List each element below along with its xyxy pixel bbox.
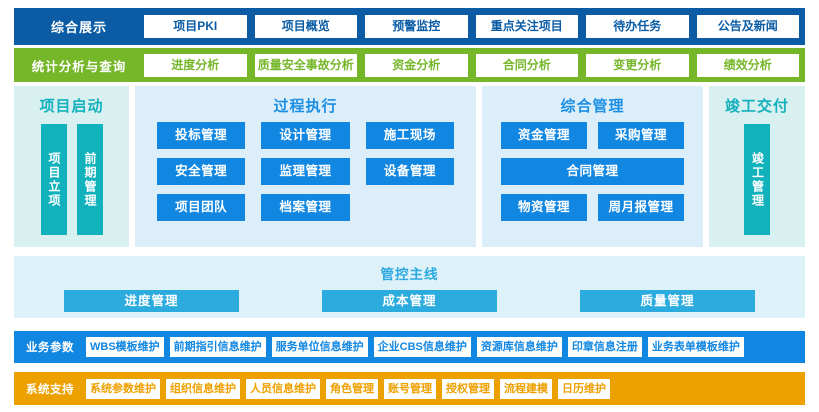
button-project-initiation[interactable]: 项目立项 xyxy=(41,124,67,235)
architecture-diagram-page: 综合展示 项目PKI 项目概览 预警监控 重点关注项目 待办任务 公告及新闻 统… xyxy=(0,0,819,412)
panel-process-execution: 过程执行 投标管理 设计管理 施工现场 安全管理 监理管理 设备管理 项目团队 … xyxy=(135,86,476,247)
nav-item-funds-analysis[interactable]: 资金分析 xyxy=(365,54,468,77)
button-preliminary-management[interactable]: 前期管理 xyxy=(77,124,103,235)
nav-item-business-form-template[interactable]: 业务表单模板维护 xyxy=(648,337,744,357)
button-group-comprehensive-management: 资金管理 采购管理 合同管理 物资管理 周月报管理 xyxy=(482,116,703,221)
nav-bar-comprehensive-display: 综合展示 项目PKI 项目概览 预警监控 重点关注项目 待办任务 公告及新闻 xyxy=(14,8,805,45)
panel-title-comprehensive-management: 综合管理 xyxy=(482,86,703,116)
nav-item-announcements-news[interactable]: 公告及新闻 xyxy=(697,15,800,38)
button-safety-management[interactable]: 安全管理 xyxy=(157,158,245,185)
bar-title-business-parameters: 业务参数 xyxy=(14,339,86,355)
nav-item-system-parameter-maintenance[interactable]: 系统参数维护 xyxy=(86,379,160,399)
nav-item-organization-info[interactable]: 组织信息维护 xyxy=(166,379,240,399)
nav-item-process-modeling[interactable]: 流程建模 xyxy=(500,379,552,399)
panel-comprehensive-management: 综合管理 资金管理 采购管理 合同管理 物资管理 周月报管理 xyxy=(482,86,703,247)
panel-completion-delivery: 竣工交付 竣工管理 xyxy=(709,86,805,247)
button-completion-management[interactable]: 竣工管理 xyxy=(744,124,770,235)
nav-bar-business-parameters: 业务参数 WBS模板维护 前期指引信息维护 服务单位信息维护 企业CBS信息维护… xyxy=(14,331,805,363)
nav-item-project-pki[interactable]: 项目PKI xyxy=(144,15,247,38)
button-materials-management[interactable]: 物资管理 xyxy=(501,194,587,221)
management-row-2: 合同管理 xyxy=(501,158,684,185)
panel-title-main-control-line: 管控主线 xyxy=(14,256,805,283)
nav-item-pending-tasks[interactable]: 待办任务 xyxy=(586,15,689,38)
bar-title-comprehensive-display: 综合展示 xyxy=(14,17,144,36)
management-row-3: 物资管理 周月报管理 xyxy=(501,194,684,221)
nav-item-wbs-template-maintenance[interactable]: WBS模板维护 xyxy=(86,337,164,357)
nav-bar-statistics-analysis: 统计分析与查询 进度分析 质量安全事故分析 资金分析 合同分析 变更分析 绩效分… xyxy=(14,48,805,82)
nav-item-service-unit-info[interactable]: 服务单位信息维护 xyxy=(272,337,368,357)
nav-item-seal-info-registration[interactable]: 印章信息注册 xyxy=(568,337,642,357)
button-grid-process-execution: 投标管理 设计管理 施工现场 安全管理 监理管理 设备管理 项目团队 档案管理 xyxy=(135,116,476,221)
nav-item-progress-analysis[interactable]: 进度分析 xyxy=(144,54,247,77)
nav-item-key-projects[interactable]: 重点关注项目 xyxy=(476,15,579,38)
bar-title-system-support: 系统支持 xyxy=(14,381,86,397)
button-procurement-management[interactable]: 采购管理 xyxy=(598,122,684,149)
panel-title-process-execution: 过程执行 xyxy=(135,86,476,116)
vertical-button-group-project-start: 项目立项 前期管理 xyxy=(14,124,129,235)
nav-items-statistics-analysis: 进度分析 质量安全事故分析 资金分析 合同分析 变更分析 绩效分析 xyxy=(144,54,805,77)
nav-item-contract-analysis[interactable]: 合同分析 xyxy=(476,54,579,77)
button-bidding-management[interactable]: 投标管理 xyxy=(157,122,245,149)
panel-main-control-line: 管控主线 进度管理 成本管理 质量管理 xyxy=(14,256,805,318)
nav-item-change-analysis[interactable]: 变更分析 xyxy=(586,54,689,77)
panel-title-project-start: 项目启动 xyxy=(14,86,129,116)
nav-item-performance-analysis[interactable]: 绩效分析 xyxy=(697,54,800,77)
button-cost-management[interactable]: 成本管理 xyxy=(322,290,497,312)
button-project-team[interactable]: 项目团队 xyxy=(157,194,245,221)
button-archive-management[interactable]: 档案管理 xyxy=(261,194,349,221)
button-equipment-management[interactable]: 设备管理 xyxy=(366,158,454,185)
nav-items-system-support: 系统参数维护 组织信息维护 人员信息维护 角色管理 账号管理 授权管理 流程建模… xyxy=(86,379,805,399)
nav-item-quality-safety-analysis[interactable]: 质量安全事故分析 xyxy=(255,54,358,77)
button-group-main-control-line: 进度管理 成本管理 质量管理 xyxy=(14,283,805,312)
panel-project-start: 项目启动 项目立项 前期管理 xyxy=(14,86,129,247)
button-weekly-monthly-report-management[interactable]: 周月报管理 xyxy=(598,194,684,221)
button-quality-management[interactable]: 质量管理 xyxy=(580,290,755,312)
button-progress-management[interactable]: 进度管理 xyxy=(64,290,239,312)
vertical-button-group-completion-delivery: 竣工管理 xyxy=(709,124,805,235)
button-construction-site[interactable]: 施工现场 xyxy=(366,122,454,149)
nav-item-resource-library-info[interactable]: 资源库信息维护 xyxy=(477,337,562,357)
nav-item-role-management[interactable]: 角色管理 xyxy=(326,379,378,399)
button-supervision-management[interactable]: 监理管理 xyxy=(261,158,349,185)
nav-item-account-management[interactable]: 账号管理 xyxy=(384,379,436,399)
nav-item-alert-monitoring[interactable]: 预警监控 xyxy=(365,15,468,38)
nav-item-personnel-info[interactable]: 人员信息维护 xyxy=(246,379,320,399)
panel-title-completion-delivery: 竣工交付 xyxy=(709,86,805,116)
nav-item-calendar-maintenance[interactable]: 日历维护 xyxy=(558,379,610,399)
nav-items-comprehensive-display: 项目PKI 项目概览 预警监控 重点关注项目 待办任务 公告及新闻 xyxy=(144,15,805,38)
nav-item-project-overview[interactable]: 项目概览 xyxy=(255,15,358,38)
nav-item-authorization-management[interactable]: 授权管理 xyxy=(442,379,494,399)
stage-row: 项目启动 项目立项 前期管理 过程执行 投标管理 设计管理 施工现场 安全管理 … xyxy=(14,86,805,247)
management-row-1: 资金管理 采购管理 xyxy=(501,122,684,149)
button-funds-management[interactable]: 资金管理 xyxy=(501,122,587,149)
nav-item-enterprise-cbs-info[interactable]: 企业CBS信息维护 xyxy=(374,337,471,357)
nav-items-business-parameters: WBS模板维护 前期指引信息维护 服务单位信息维护 企业CBS信息维护 资源库信… xyxy=(86,337,805,357)
bar-title-statistics-analysis: 统计分析与查询 xyxy=(14,56,144,75)
button-design-management[interactable]: 设计管理 xyxy=(261,122,349,149)
button-contract-management[interactable]: 合同管理 xyxy=(501,158,684,185)
nav-bar-system-support: 系统支持 系统参数维护 组织信息维护 人员信息维护 角色管理 账号管理 授权管理… xyxy=(14,372,805,405)
nav-item-preliminary-guide-info[interactable]: 前期指引信息维护 xyxy=(170,337,266,357)
